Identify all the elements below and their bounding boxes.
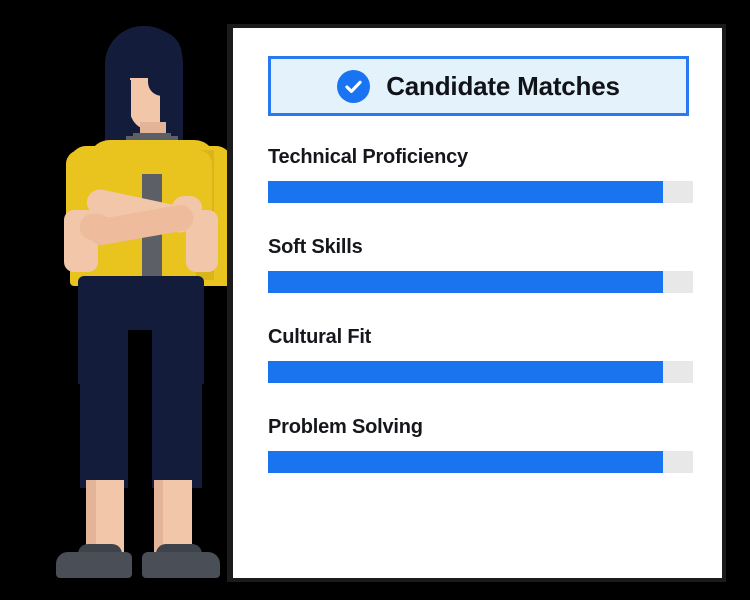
progress-fill (268, 271, 663, 293)
hair-fringe-side (148, 30, 182, 96)
progress-fill (268, 361, 663, 383)
candidate-matches-card: Candidate Matches Technical Proficiency … (233, 28, 722, 578)
metric-row: Soft Skills (268, 236, 698, 293)
progress-track (268, 361, 693, 383)
progress-fill (268, 181, 663, 203)
check-circle-icon (337, 70, 370, 103)
metric-label: Technical Proficiency (268, 146, 698, 169)
hand-left (80, 214, 110, 240)
pant-leg-left (80, 370, 128, 488)
card-header-banner: Candidate Matches (268, 56, 689, 116)
metric-row: Problem Solving (268, 416, 698, 473)
person-illustration (0, 0, 230, 600)
metric-row: Cultural Fit (268, 326, 698, 383)
metric-label: Problem Solving (268, 416, 698, 439)
leg-gap (128, 330, 152, 490)
metric-label: Soft Skills (268, 236, 698, 259)
shoe-right (142, 552, 220, 578)
page-title: Candidate Matches (386, 71, 620, 102)
pant-leg-right (152, 370, 202, 488)
canvas: Candidate Matches Technical Proficiency … (0, 0, 750, 600)
progress-track (268, 451, 693, 473)
metric-label: Cultural Fit (268, 326, 698, 349)
progress-fill (268, 451, 663, 473)
metrics-list: Technical Proficiency Soft Skills Cultur… (268, 146, 698, 473)
shoe-left (56, 552, 132, 578)
progress-track (268, 181, 693, 203)
progress-track (268, 271, 693, 293)
metric-row: Technical Proficiency (268, 146, 698, 203)
